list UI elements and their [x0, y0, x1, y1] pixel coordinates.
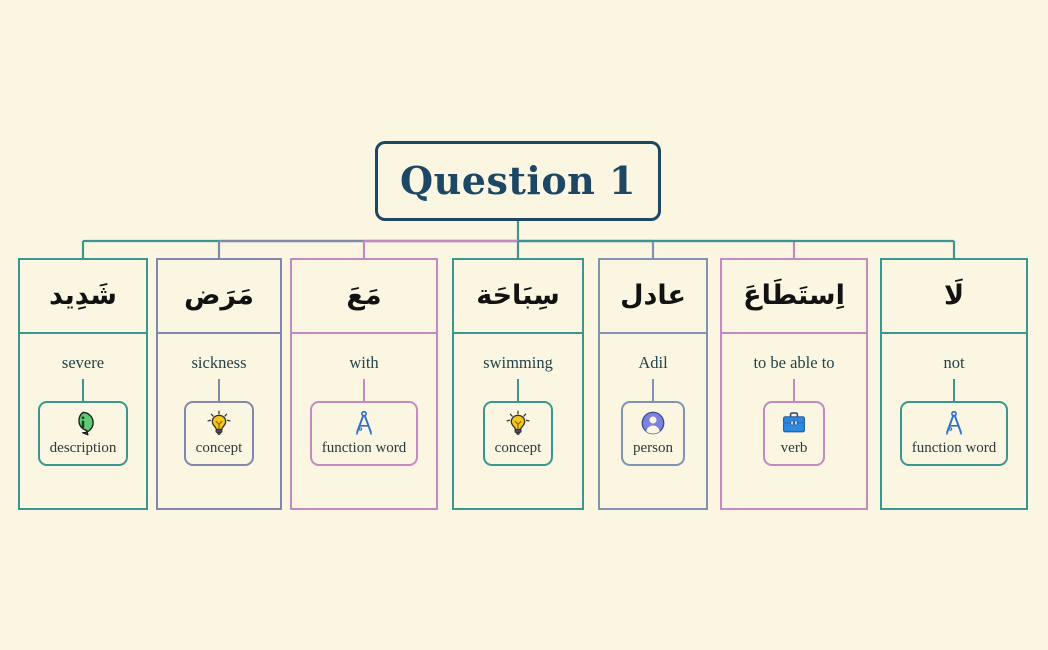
word-card-body: to be able to verb: [722, 334, 866, 508]
word-card-header: مَرَض: [158, 260, 280, 334]
lightbulb-icon: [505, 410, 531, 436]
type-badge[interactable]: description: [38, 401, 129, 466]
info-bubble-icon: [70, 410, 96, 436]
compass-icon: [941, 410, 967, 436]
translation-text: severe: [62, 355, 104, 372]
badge-stem: [218, 379, 220, 401]
type-badge-label: verb: [781, 441, 808, 456]
translation-text: to be able to: [753, 355, 834, 372]
word-card-body: with function word: [292, 334, 436, 508]
type-badge-label: function word: [322, 441, 407, 456]
word-card[interactable]: شَدِيد severe description: [18, 258, 148, 510]
badge-stem: [517, 379, 519, 401]
translation-text: Adil: [638, 355, 667, 372]
translation-text: with: [349, 355, 378, 372]
word-card[interactable]: مَعَ with function word: [290, 258, 438, 510]
badge-stem: [363, 379, 365, 401]
word-card-body: not function word: [882, 334, 1026, 508]
arabic-word: عادل: [620, 280, 686, 311]
type-badge[interactable]: concept: [184, 401, 255, 466]
word-card-body: Adil person: [600, 334, 706, 508]
translation-text: not: [943, 355, 964, 372]
diagram-canvas: Question 1 شَدِيد severe description مَر…: [0, 0, 1048, 650]
arabic-word: اِستَطَاعَ: [743, 280, 845, 311]
page-title: Question 1: [400, 162, 636, 200]
word-card[interactable]: مَرَض sickness concep: [156, 258, 282, 510]
badge-stem: [953, 379, 955, 401]
word-card-header: اِستَطَاعَ: [722, 260, 866, 334]
word-card[interactable]: لَا not function word: [880, 258, 1028, 510]
word-card-header: سِبَاحَة: [454, 260, 582, 334]
word-card-header: شَدِيد: [20, 260, 146, 334]
type-badge-label: function word: [912, 441, 997, 456]
root-question-node[interactable]: Question 1: [375, 141, 661, 221]
compass-icon: [351, 410, 377, 436]
type-badge-label: concept: [196, 441, 243, 456]
word-card-header: عادل: [600, 260, 706, 334]
word-card[interactable]: سِبَاحَة swimming con: [452, 258, 584, 510]
translation-text: sickness: [192, 355, 247, 372]
type-badge[interactable]: person: [621, 401, 685, 466]
type-badge[interactable]: verb: [763, 401, 825, 466]
word-card-body: severe description: [20, 334, 146, 508]
word-card[interactable]: اِستَطَاعَ to be able to verb: [720, 258, 868, 510]
arabic-word: مَعَ: [346, 280, 381, 311]
arabic-word: شَدِيد: [49, 280, 117, 311]
badge-stem: [652, 379, 654, 401]
type-badge[interactable]: concept: [483, 401, 554, 466]
badge-stem: [793, 379, 795, 401]
type-badge[interactable]: function word: [900, 401, 1009, 466]
word-card-header: لَا: [882, 260, 1026, 334]
word-card[interactable]: عادل Adil person: [598, 258, 708, 510]
type-badge-label: concept: [495, 441, 542, 456]
type-badge[interactable]: function word: [310, 401, 419, 466]
translation-text: swimming: [483, 355, 553, 372]
person-icon: [640, 410, 666, 436]
word-card-body: sickness concept: [158, 334, 280, 508]
word-card-header: مَعَ: [292, 260, 436, 334]
type-badge-label: description: [50, 441, 117, 456]
arabic-word: سِبَاحَة: [476, 280, 560, 311]
type-badge-label: person: [633, 441, 673, 456]
briefcase-icon: [781, 410, 807, 436]
arabic-word: لَا: [944, 280, 964, 311]
lightbulb-icon: [206, 410, 232, 436]
badge-stem: [82, 379, 84, 401]
arabic-word: مَرَض: [184, 280, 254, 311]
word-card-body: swimming concept: [454, 334, 582, 508]
